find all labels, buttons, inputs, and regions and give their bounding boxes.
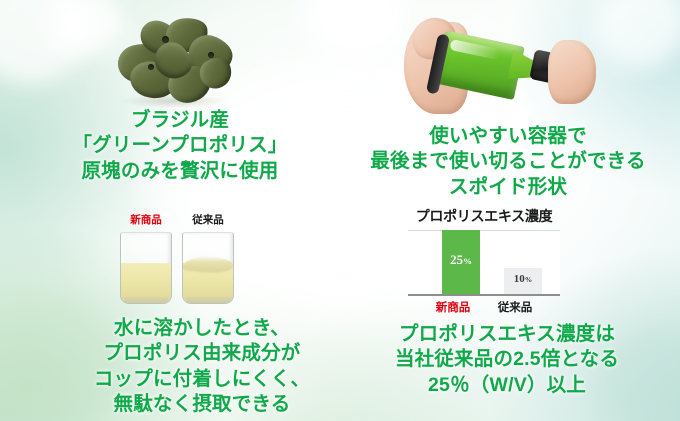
chart-title: プロポリスエキス濃度 <box>400 206 568 226</box>
hand-fingers <box>548 40 596 104</box>
propolis-chunk-hole <box>148 64 154 70</box>
chart-bar-value-old-unit: % <box>525 275 532 284</box>
chart-bar-new-product: 25% <box>442 230 480 294</box>
glass-bottom <box>186 297 230 303</box>
chart-category-conventional: 従来品 <box>487 299 543 315</box>
chart-bar-value-old-number: 10 <box>514 273 525 285</box>
chart-bar-value-new-number: 25 <box>450 252 463 267</box>
concentration-bar-chart: プロポリスエキス濃度 25% 10% 新商品 従来品 <box>400 206 568 318</box>
propolis-chunk-hole <box>208 52 214 58</box>
glass-conventional <box>182 232 234 304</box>
glass-liquid <box>121 263 171 303</box>
chart-plot-area: 25% 10% <box>408 230 560 294</box>
origin-caption: ブラジル産 「グリーンプロポリス」 原塊のみを贅沢に使用 <box>30 108 330 184</box>
concentration-caption: プロポリスエキス濃度は 当社従来品の2.5倍となる 25％（W/V）以上 <box>354 322 660 398</box>
glass-residue-layer <box>183 257 233 271</box>
bottle-caption: 使いやすい容器で 最後まで使い切ることができる スポイド形状 <box>348 124 668 200</box>
chart-bar-value-new: 25% <box>442 252 480 268</box>
chart-category-new-product: 新商品 <box>425 299 481 315</box>
chart-bar-value-old: 10% <box>504 273 542 285</box>
two-glasses-comparison-photo: 新商品 従来品 <box>120 212 242 308</box>
chart-bar-value-new-unit: % <box>463 256 472 266</box>
infographic-canvas: ブラジル産 「グリーンプロポリス」 原塊のみを贅沢に使用 使いやすい容器で 最後… <box>0 0 680 421</box>
glass-label-conventional: 従来品 <box>182 212 234 227</box>
chart-bar-conventional: 10% <box>504 268 542 294</box>
hand-holding-dropper-bottle-photo <box>398 8 598 116</box>
glass-label-new-product: 新商品 <box>120 212 172 227</box>
glass-bottom <box>124 297 168 303</box>
glass-liquid <box>183 263 233 303</box>
chart-baseline-axis <box>408 294 560 296</box>
glass-new-product <box>120 232 172 304</box>
propolis-raw-chunks-photo <box>112 14 236 106</box>
dissolve-caption: 水に溶かしたとき、 プロポリス由来成分が コップに付着しにくく、 無駄なく摂取で… <box>78 316 326 417</box>
propolis-chunk-hole <box>162 36 169 43</box>
